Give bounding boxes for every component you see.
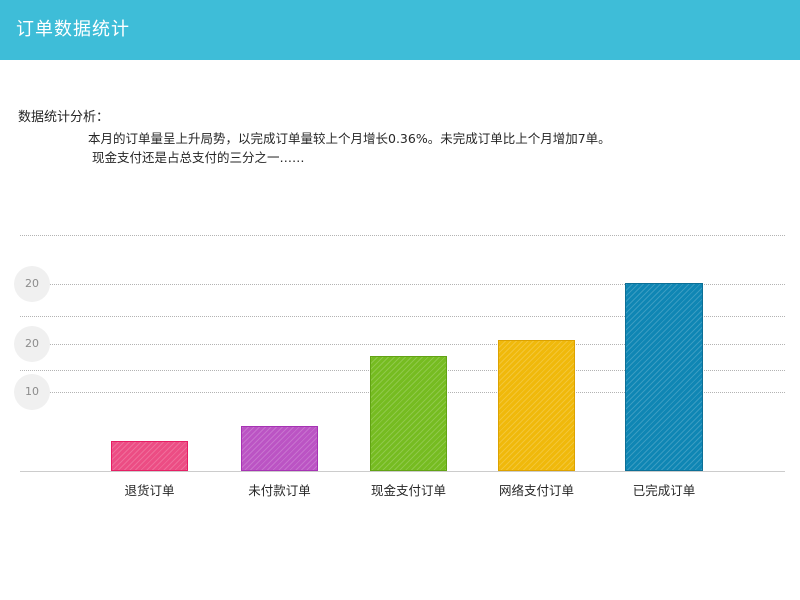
x-axis-label-3: 现金支付订单 (340, 482, 477, 500)
analysis-body: 本月的订单量呈上升局势，以完成订单量较上个月增长0.36%。未完成订单比上个月增… (88, 129, 788, 167)
slide-canvas: 订单数据统计 数据统计分析： 本月的订单量呈上升局势，以完成订单量较上个月增长0… (0, 0, 800, 600)
bar-1[interactable] (111, 441, 188, 471)
x-axis-label-4: 网络支付订单 (468, 482, 605, 500)
bar-4[interactable] (498, 340, 575, 471)
x-axis-label-5: 已完成订单 (595, 482, 733, 500)
bar-chart: 202010 退货订单未付款订单现金支付订单网络支付订单已完成订单 (0, 230, 800, 520)
page-title: 订单数据统计 (16, 17, 130, 43)
x-axis-line (20, 471, 785, 472)
analysis-label: 数据统计分析： (18, 108, 788, 128)
analysis-block: 数据统计分析： 本月的订单量呈上升局势，以完成订单量较上个月增长0.36%。未完… (18, 108, 788, 167)
x-axis-label-1: 退货订单 (81, 482, 218, 500)
bar-3[interactable] (370, 356, 447, 471)
header-bar: 订单数据统计 (0, 0, 800, 60)
bar-5[interactable] (625, 283, 703, 471)
bar-series (0, 230, 800, 471)
analysis-line-2: 现金支付还是占总支付的三分之一…… (88, 148, 788, 167)
analysis-line-1: 本月的订单量呈上升局势，以完成订单量较上个月增长0.36%。未完成订单比上个月增… (88, 129, 788, 148)
bar-2[interactable] (241, 426, 318, 471)
x-axis-label-2: 未付款订单 (211, 482, 348, 500)
